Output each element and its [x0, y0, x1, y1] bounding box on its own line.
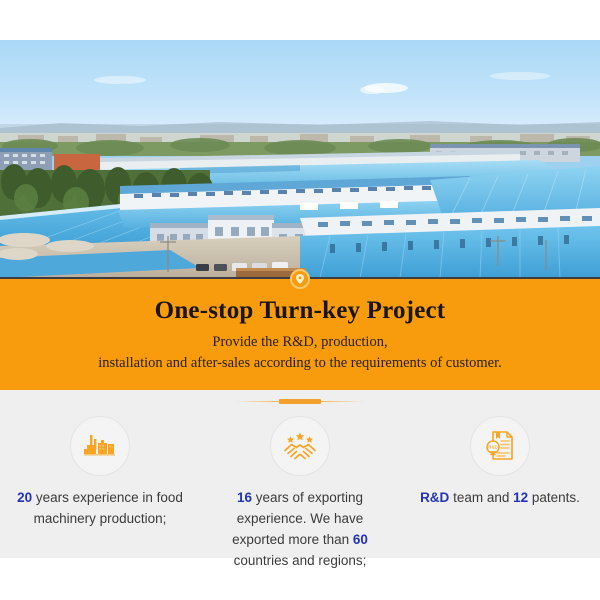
factory-hero-photo [0, 40, 600, 278]
features-strip: 20 years experience in food machinery pr… [0, 390, 600, 558]
feature-highlight-years: 16 [237, 490, 252, 505]
feature-highlight-years: 20 [17, 490, 32, 505]
feature-text-rd: R&D team and 12 patents. [412, 488, 588, 509]
feature-highlight-patents: 12 [513, 490, 528, 505]
headline-banner: One-stop Turn-key Project Provide the R&… [0, 277, 600, 390]
feature-item-experience: 20 years experience in food machinery pr… [0, 390, 200, 558]
feature-highlight-countries: 60 [353, 532, 368, 547]
banner-subtitle: Provide the R&D, production, installatio… [0, 332, 600, 374]
promo-banner-page: One-stop Turn-key Project Provide the R&… [0, 0, 600, 600]
feature-body-text-2: patents. [528, 490, 580, 505]
factory-icon [70, 416, 130, 476]
feature-body-text-2: countries and regions; [234, 553, 367, 568]
page-title: One-stop Turn-key Project [0, 295, 600, 326]
feature-body-text-1: years of exporting experience. We have e… [232, 490, 363, 547]
feature-text-experience: 20 years experience in food machinery pr… [12, 488, 188, 530]
factory-aerial-illustration [0, 40, 600, 278]
svg-text:R&D: R&D [488, 445, 498, 450]
feature-item-rd: R&D R&D team and 12 patents. [400, 390, 600, 558]
feature-item-exporting: 16 years of exporting experience. We hav… [200, 390, 400, 558]
location-pin-icon [290, 269, 310, 289]
banner-subtitle-line-2: installation and after-sales according t… [0, 353, 600, 374]
feature-body-text-1: team and [449, 490, 513, 505]
feature-text-exporting: 16 years of exporting experience. We hav… [212, 488, 388, 572]
section-divider-ornament [235, 398, 365, 405]
rd-document-bulb-icon: R&D [470, 416, 530, 476]
feature-highlight-rd: R&D [420, 490, 449, 505]
banner-subtitle-line-1: Provide the R&D, production, [0, 332, 600, 353]
feature-body-text: years experience in food machinery produ… [32, 490, 183, 526]
handshake-stars-icon [270, 416, 330, 476]
